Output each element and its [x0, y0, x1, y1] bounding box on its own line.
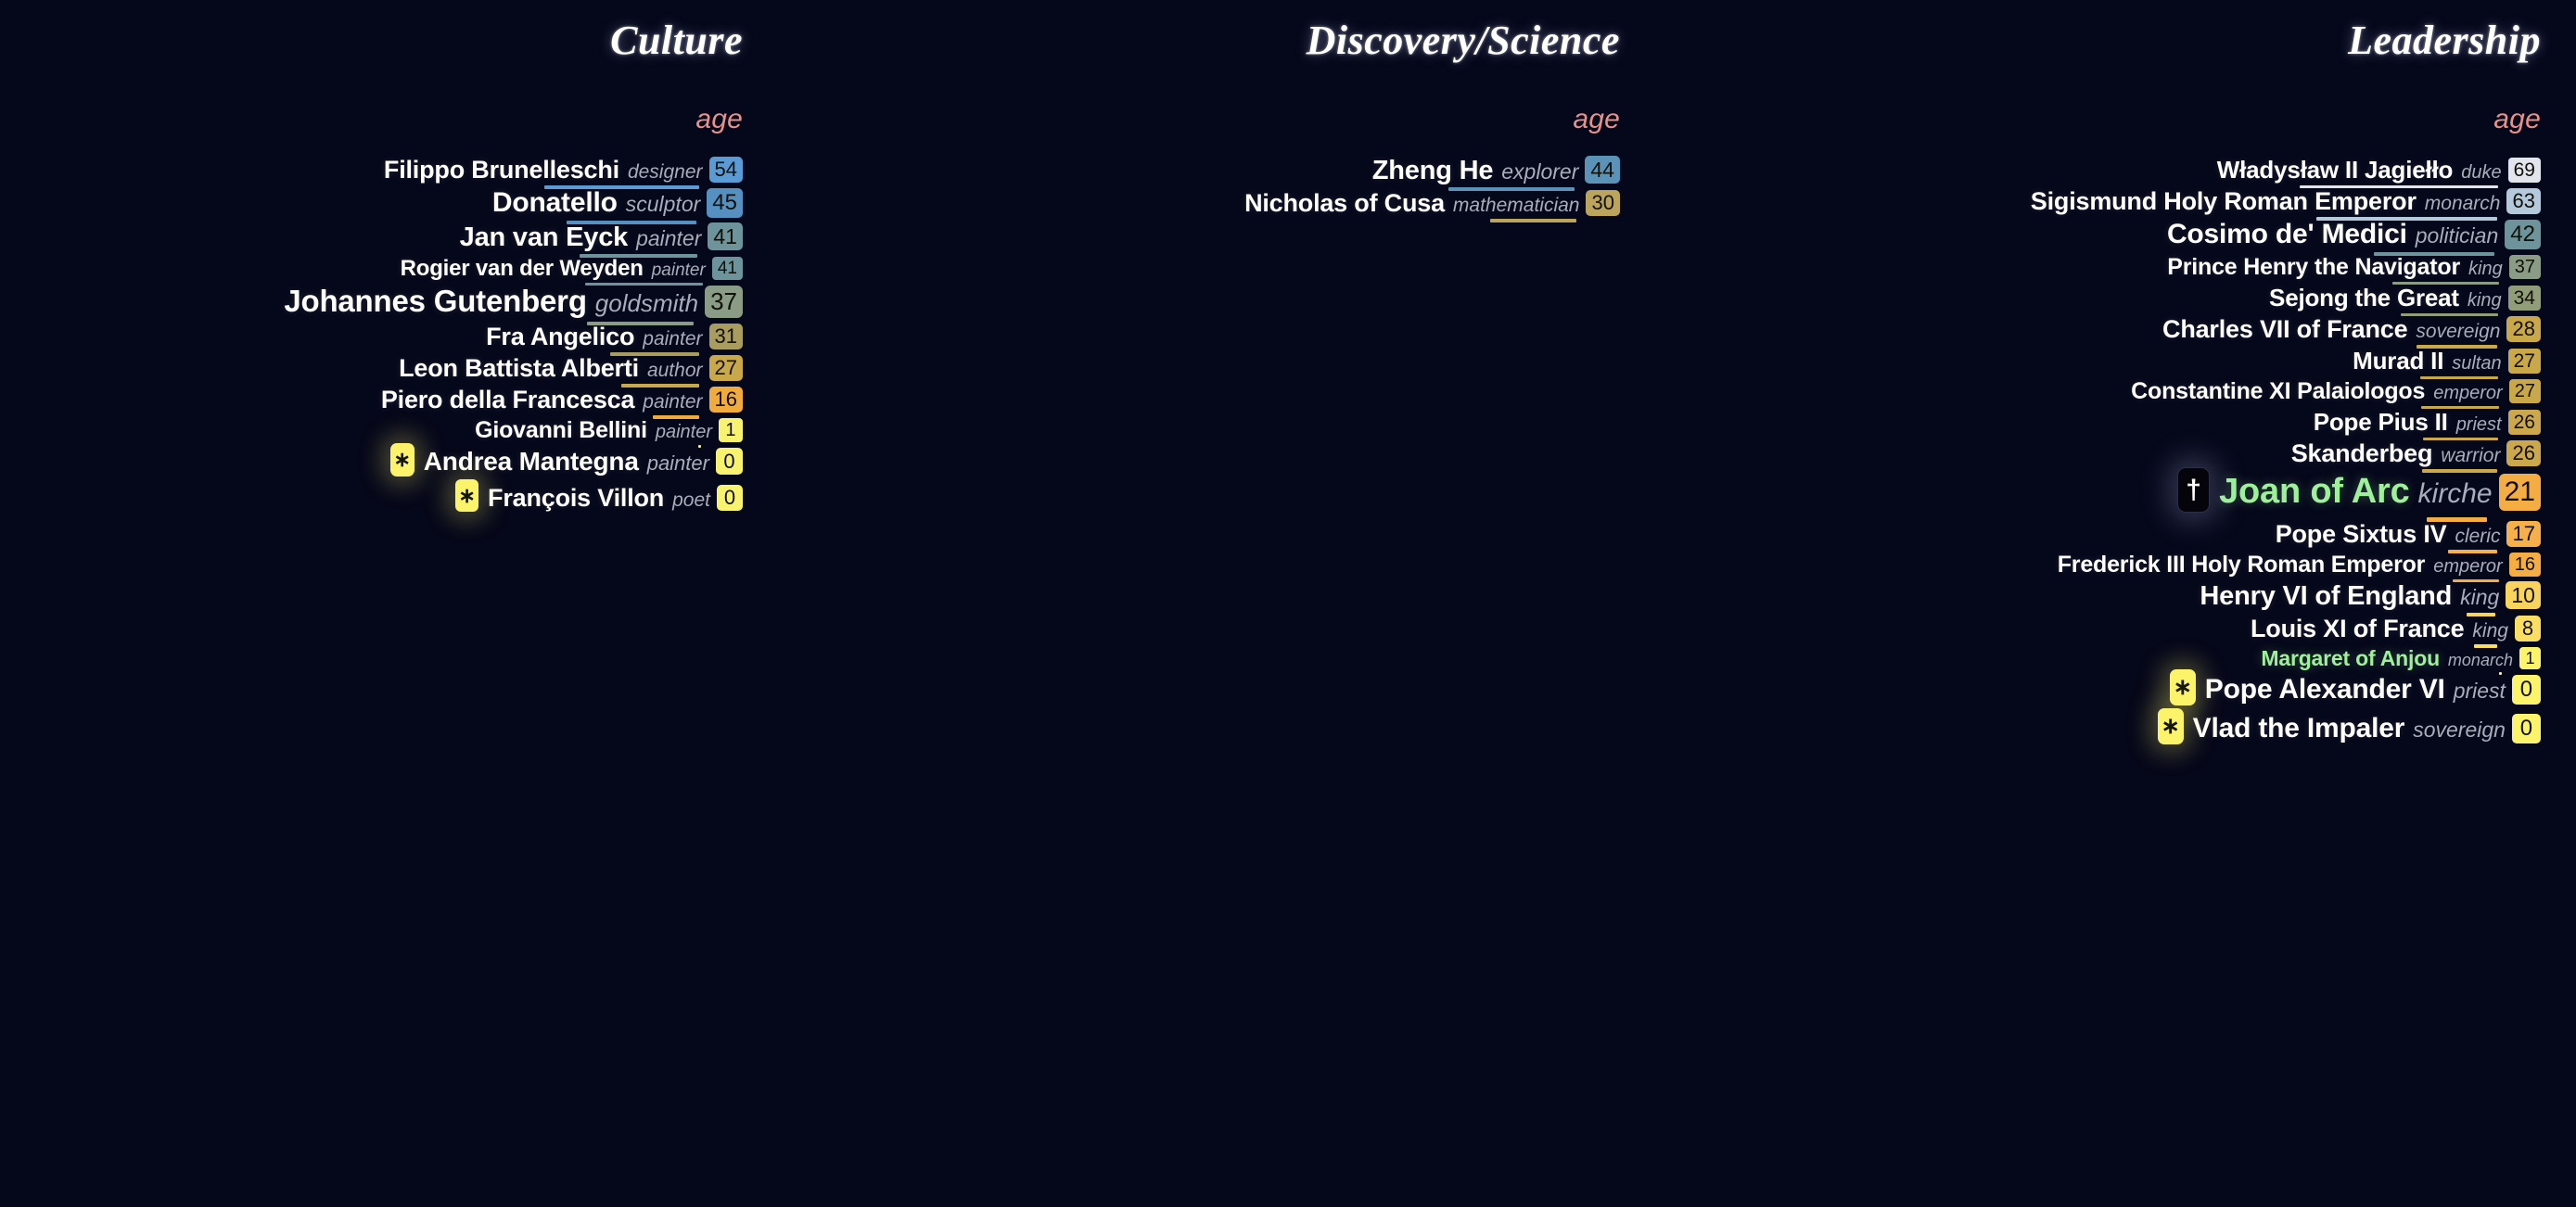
entry-name: Margaret of Anjou	[2261, 646, 2440, 671]
age-badge: 34	[2508, 286, 2541, 311]
entry-name: Johannes Gutenberg	[284, 284, 586, 319]
entry-row[interactable]: Fra Angelicopainter31	[486, 323, 743, 351]
entry-name: Leon Battista Alberti	[399, 354, 639, 383]
entry-name: Skanderbeg	[2291, 439, 2433, 468]
entry-row[interactable]: Władysław II Jagiełłoduke69	[2217, 156, 2541, 184]
entry-name: Sejong the Great	[2269, 284, 2459, 312]
entry-role: painter	[636, 226, 701, 251]
column-leadership: LeadershipageWładysław II Jagiełłoduke69…	[1717, 0, 2576, 1207]
age-badge: 16	[709, 387, 743, 413]
age-column-label: age	[695, 106, 743, 133]
entry-name: Jan van Eyck	[460, 222, 628, 253]
entry-role: painter	[643, 328, 702, 350]
entry-role: politician	[2416, 223, 2499, 248]
entry-row[interactable]: Prince Henry the Navigatorking37	[2167, 254, 2541, 281]
entry-row[interactable]: Donatellosculptor45	[492, 187, 743, 220]
entry-name: Constantine XI Palaiologos	[2131, 378, 2425, 405]
entry-role: emperor	[2433, 383, 2502, 404]
entry-row[interactable]: ∗Pope Alexander VIpriest0	[2170, 673, 2541, 709]
entry-row[interactable]: Cosimo de' Medicipolitician42	[2167, 219, 2541, 251]
entry-role: sovereign	[2413, 718, 2506, 743]
entry-role: poet	[672, 489, 710, 512]
age-badge: 16	[2509, 553, 2541, 577]
age-badge: 0	[716, 448, 743, 475]
entry-name: Sigismund Holy Roman Emperor	[2031, 187, 2417, 216]
entry-role: priest	[2454, 679, 2506, 704]
age-badge: 1	[2519, 647, 2541, 669]
entry-role: mathematician	[1453, 195, 1580, 217]
age-badge: 26	[2508, 410, 2541, 435]
dagger-marker-icon[interactable]: †	[2177, 467, 2210, 513]
entry-row[interactable]: Jan van Eyckpainter41	[460, 222, 743, 253]
entry-list: Władysław II Jagiełłoduke69Sigismund Hol…	[1717, 156, 2541, 751]
entry-role: painter	[643, 391, 702, 413]
age-badge: 41	[712, 257, 743, 280]
age-badge: 10	[2506, 581, 2541, 609]
entry-name: Zheng He	[1372, 156, 1494, 186]
age-badge: 27	[2508, 349, 2541, 374]
entry-row[interactable]: Zheng Heexplorer44	[1372, 156, 1620, 186]
timeline-board: CultureageFilippo Brunelleschidesigner54…	[0, 0, 2576, 1207]
entry-row[interactable]: Murad IIsultan27	[2353, 347, 2541, 375]
age-badge: 41	[708, 222, 743, 250]
entry-name: Giovanni Bellini	[475, 417, 647, 444]
entry-name: Pope Alexander VI	[2205, 674, 2445, 705]
entry-row[interactable]: Giovanni Bellinipainter1	[475, 417, 743, 444]
entry-row[interactable]: Henry VI of Englandking10	[2200, 581, 2541, 612]
age-badge: 27	[709, 355, 743, 381]
entry-role: king	[2468, 259, 2503, 280]
entry-row[interactable]: Sejong the Greatking34	[2269, 284, 2541, 312]
age-duration-bar	[1490, 219, 1576, 222]
age-badge: 30	[1586, 190, 1619, 216]
entry-row[interactable]: Louis XI of Franceking8	[2251, 615, 2541, 643]
entry-role: king	[2468, 290, 2502, 311]
entry-row[interactable]: Filippo Brunelleschidesigner54	[384, 156, 743, 184]
entry-row[interactable]: Johannes Gutenberggoldsmith37	[284, 284, 743, 320]
age-badge: 54	[709, 157, 743, 183]
entry-name: Murad II	[2353, 347, 2443, 375]
column-title: Culture	[610, 20, 743, 61]
entry-row[interactable]: Charles VII of Francesovereign28	[2162, 315, 2541, 344]
column-title: Leadership	[2348, 20, 2541, 61]
age-badge: 0	[2512, 675, 2541, 705]
entry-role: duke	[2461, 162, 2501, 184]
entry-role: painter	[647, 451, 709, 476]
age-badge: 8	[2515, 616, 2541, 642]
entry-row[interactable]: ∗Andrea Mantegnapainter0	[390, 447, 743, 480]
asterisk-marker-icon[interactable]: ∗	[2170, 669, 2196, 705]
entry-role: designer	[628, 161, 703, 184]
entry-role: monarch	[2448, 651, 2513, 670]
age-badge: 44	[1585, 156, 1620, 184]
age-column-label: age	[1573, 106, 1620, 133]
age-badge: 37	[2509, 255, 2541, 279]
asterisk-marker-icon[interactable]: ∗	[2158, 708, 2184, 744]
entry-name: Pope Pius II	[2314, 408, 2448, 437]
age-badge: 42	[2505, 220, 2541, 249]
entry-row[interactable]: Pope Sixtus IVcleric17	[2276, 520, 2541, 549]
entry-name: Władysław II Jagiełło	[2217, 156, 2453, 184]
entry-name: Donatello	[492, 187, 618, 219]
entry-name: Cosimo de' Medici	[2167, 219, 2407, 250]
entry-role: king	[2472, 620, 2508, 642]
entry-role: sovereign	[2416, 321, 2500, 343]
entry-row[interactable]: Skanderbegwarrior26	[2291, 439, 2541, 468]
entry-row[interactable]: Sigismund Holy Roman Emperormonarch63	[2031, 187, 2541, 216]
entry-row[interactable]: †Joan of Arckirche21	[2177, 471, 2541, 516]
asterisk-marker-icon[interactable]: ∗	[455, 479, 478, 512]
age-badge: 17	[2506, 521, 2540, 547]
asterisk-marker-icon[interactable]: ∗	[390, 443, 414, 476]
entry-role: sultan	[2452, 353, 2501, 375]
column-title: Discovery/Science	[1307, 20, 1620, 61]
entry-role: explorer	[1501, 159, 1578, 184]
entry-row[interactable]: ∗François Villonpoet0	[455, 483, 743, 515]
entry-row[interactable]: ∗Vlad the Impalersovereign0	[2158, 712, 2541, 748]
entry-name: Piero della Francesca	[381, 386, 634, 414]
entry-role: king	[2460, 585, 2499, 610]
column-culture: CultureageFilippo Brunelleschidesigner54…	[0, 0, 859, 1207]
entry-row[interactable]: Nicholas of Cusamathematician30	[1244, 189, 1620, 218]
age-badge: 0	[2512, 714, 2541, 743]
age-badge: 45	[707, 188, 743, 218]
entry-name: Joan of Arc	[2219, 472, 2409, 512]
entry-role: kirche	[2418, 478, 2493, 510]
entry-name: Charles VII of France	[2162, 315, 2407, 344]
entry-name: Rogier van der Weyden	[401, 256, 644, 282]
entry-role: painter	[656, 422, 712, 443]
entry-row[interactable]: Leon Battista Albertiauthor27	[399, 354, 743, 383]
entry-list: Zheng Heexplorer44Nicholas of Cusamathem…	[859, 156, 1620, 221]
entry-name: Fra Angelico	[486, 323, 634, 351]
entry-name: Prince Henry the Navigator	[2167, 254, 2460, 281]
entry-role: sculptor	[626, 192, 701, 217]
entry-name: François Villon	[488, 484, 664, 513]
entry-name: Henry VI of England	[2200, 581, 2452, 612]
entry-role: cleric	[2455, 526, 2500, 548]
entry-name: Louis XI of France	[2251, 615, 2464, 643]
entry-name: Andrea Mantegna	[424, 447, 639, 476]
entry-name: Frederick III Holy Roman Emperor	[2058, 552, 2426, 578]
entry-role: author	[647, 360, 703, 382]
entry-role: warrior	[2441, 445, 2500, 467]
age-column-label: age	[2493, 106, 2541, 133]
entry-name: Vlad the Impaler	[2193, 713, 2405, 744]
entry-role: priest	[2456, 414, 2502, 436]
entry-name: Filippo Brunelleschi	[384, 156, 619, 184]
entry-role: emperor	[2433, 556, 2502, 578]
age-badge: 1	[719, 418, 743, 442]
entry-role: monarch	[2425, 193, 2501, 215]
entry-name: Pope Sixtus IV	[2276, 520, 2447, 549]
entry-row[interactable]: Rogier van der Weydenpainter41	[401, 256, 743, 282]
entry-role: goldsmith	[595, 289, 698, 318]
column-discovery-science: Discovery/ScienceageZheng Heexplorer44Ni…	[859, 0, 1717, 1207]
entry-row[interactable]: Piero della Francescapainter16	[381, 386, 743, 414]
age-badge: 21	[2499, 474, 2541, 511]
age-badge: 63	[2506, 188, 2540, 214]
age-badge: 31	[709, 324, 743, 349]
age-badge: 28	[2506, 316, 2540, 342]
entry-role: painter	[652, 260, 706, 281]
entry-row[interactable]: Margaret of Anjoumonarch1	[2261, 646, 2541, 671]
age-badge: 37	[705, 286, 743, 318]
entry-list: Filippo Brunelleschidesigner54Donatellos…	[0, 156, 743, 518]
entry-row[interactable]: Constantine XI Palaiologosemperor27	[2131, 378, 2541, 405]
entry-row[interactable]: Pope Pius IIpriest26	[2314, 408, 2541, 437]
entry-row[interactable]: Frederick III Holy Roman Emperoremperor1…	[2058, 552, 2541, 578]
entry-name: Nicholas of Cusa	[1244, 189, 1445, 218]
age-badge: 27	[2509, 379, 2541, 403]
age-badge: 0	[717, 485, 743, 511]
age-badge: 69	[2508, 158, 2541, 183]
age-badge: 26	[2506, 440, 2540, 466]
